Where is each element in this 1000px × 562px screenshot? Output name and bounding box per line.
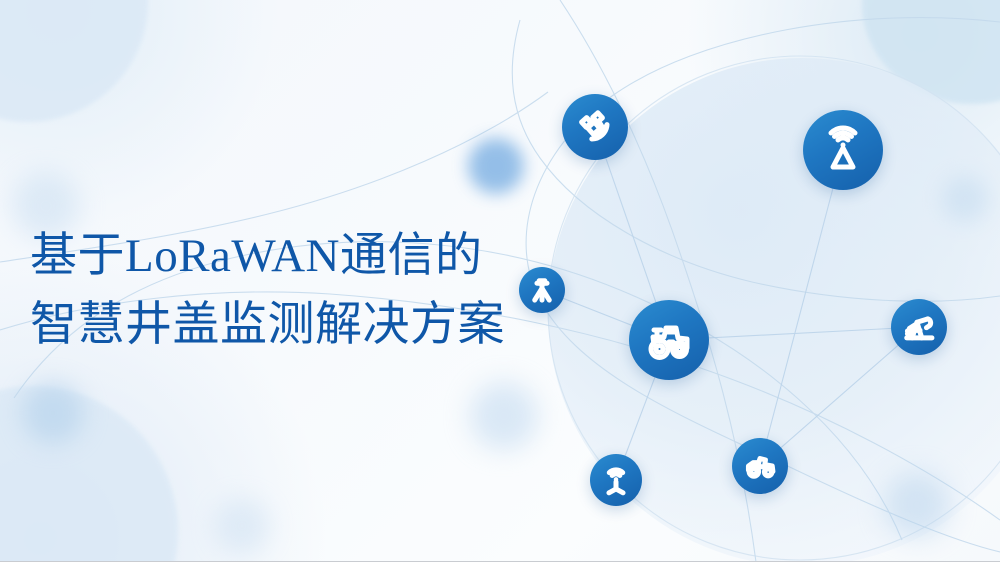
corner-blob-top-left [0, 0, 148, 122]
decor-dot [22, 382, 84, 444]
corner-blob-top-right [862, 0, 1000, 104]
corner-blob-bottom-left [0, 386, 178, 562]
tractor-icon [644, 315, 694, 365]
harvester-vehicle-icon-node [732, 438, 788, 494]
decor-dot [468, 138, 524, 194]
radio-tower-icon-node [803, 110, 883, 190]
satellite-dish-icon [575, 107, 615, 147]
title-block: 基于LoRaWAN通信的 智慧井盖监测解决方案 [30, 226, 570, 362]
cover-slide: 基于LoRaWAN通信的 智慧井盖监测解决方案 [0, 0, 1000, 562]
page-title-line-2: 智慧井盖监测解决方案 [30, 286, 570, 362]
satellite-dish-icon-node [562, 94, 628, 160]
decor-dot [214, 498, 270, 554]
wireless-sensor-icon-node [590, 454, 642, 506]
wireless-sensor-icon [600, 464, 632, 496]
decor-dot [470, 382, 538, 450]
harvester-vehicle-icon [743, 449, 777, 483]
decor-dot [884, 472, 950, 538]
tractor-icon-node [629, 300, 709, 380]
oil-pumpjack-icon-node [891, 299, 947, 355]
oil-pumpjack-icon [902, 310, 936, 344]
radio-tower-icon [818, 125, 868, 175]
page-title-line-1: 基于LoRaWAN通信的 [30, 226, 570, 286]
decor-dot [942, 176, 988, 222]
